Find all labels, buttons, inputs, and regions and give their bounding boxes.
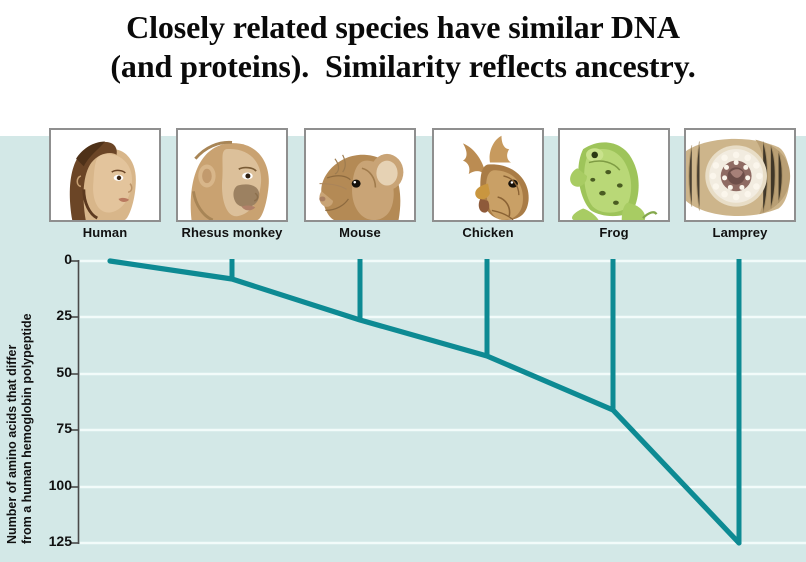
species-item-human[interactable]: Human — [49, 128, 161, 240]
species-label-mouse: Mouse — [304, 225, 416, 240]
frog-illustration — [558, 128, 670, 222]
y-axis-title: Number of amino acids that differ from a… — [0, 248, 40, 548]
species-label-lamprey: Lamprey — [684, 225, 796, 240]
rhesus-monkey-illustration — [176, 128, 288, 222]
chart-area: 0 25 50 75 100 125 — [0, 248, 806, 562]
species-label-rhesus-monkey: Rhesus monkey — [176, 225, 288, 240]
title-line-2: (and proteins). Similarity reflects ance… — [110, 47, 695, 86]
mouse-illustration — [304, 128, 416, 222]
species-item-lamprey[interactable]: Lamprey — [684, 128, 796, 240]
species-item-rhesus-monkey[interactable]: Rhesus monkey — [176, 128, 288, 240]
species-label-human: Human — [49, 225, 161, 240]
slide-canvas: Closely related species have similar DNA… — [0, 0, 806, 562]
species-item-frog[interactable]: Frog — [558, 128, 670, 240]
y-axis-title-line-1: Number of amino acids that differ — [5, 248, 20, 544]
y-axis-title-line-2: from a human hemoglobin polypeptide — [20, 248, 35, 544]
species-label-frog: Frog — [558, 225, 670, 240]
title-line-1: Closely related species have similar DNA — [126, 8, 680, 47]
species-thumbnail-strip: Human — [0, 128, 806, 248]
species-item-chicken[interactable]: Chicken — [432, 128, 544, 240]
y-axis-spine — [71, 260, 79, 544]
chicken-illustration — [432, 128, 544, 222]
human-portrait-illustration — [49, 128, 161, 222]
lamprey-mouth-illustration — [684, 128, 796, 222]
species-item-mouse[interactable]: Mouse — [304, 128, 416, 240]
slide-title: Closely related species have similar DNA… — [0, 0, 806, 120]
plot-background — [78, 248, 806, 562]
species-label-chicken: Chicken — [432, 225, 544, 240]
